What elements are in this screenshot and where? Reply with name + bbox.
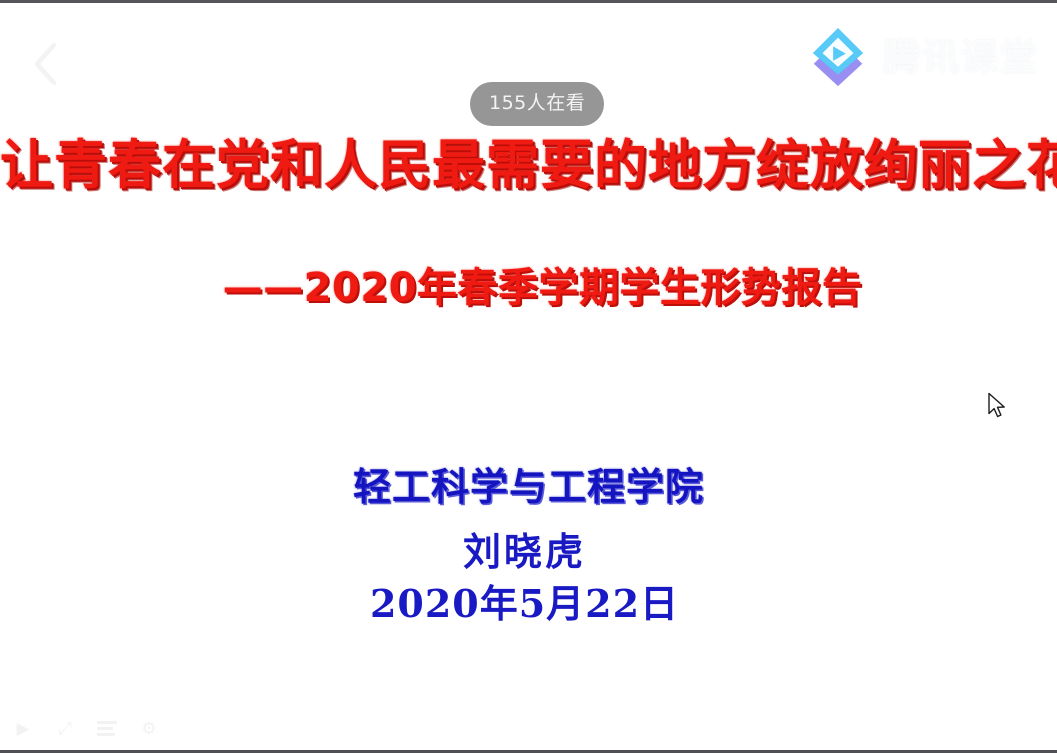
letterbox-top-edge [0, 0, 1057, 3]
play-button[interactable]: ▶ [10, 717, 36, 739]
slide-title: 让青春在党和人民最需要的地方绽放绚丽之花 [0, 136, 1057, 195]
playlist-icon[interactable] [94, 717, 120, 739]
slide-subtitle: ——2020年春季学期学生形势报告 [0, 265, 1057, 311]
slide-date: 2020年5月22日 [0, 583, 1057, 625]
player-controls-bar[interactable]: ▶ ⤢ ⚙ [10, 717, 162, 739]
viewer-count-badge: 155人在看 [470, 82, 604, 126]
slide-speaker-name: 刘晓虎 [0, 531, 1057, 573]
slide-affiliation: 轻工科学与工程学院 [0, 467, 1057, 509]
back-button[interactable] [20, 36, 72, 92]
settings-button[interactable]: ⚙ [136, 717, 162, 739]
playlist-lines [97, 721, 117, 736]
chevron-left-icon [31, 41, 61, 87]
fullscreen-button[interactable]: ⤢ [52, 717, 78, 739]
live-video-player: 让青春在党和人民最需要的地方绽放绚丽之花 ——2020年春季学期学生形势报告 轻… [0, 0, 1057, 753]
